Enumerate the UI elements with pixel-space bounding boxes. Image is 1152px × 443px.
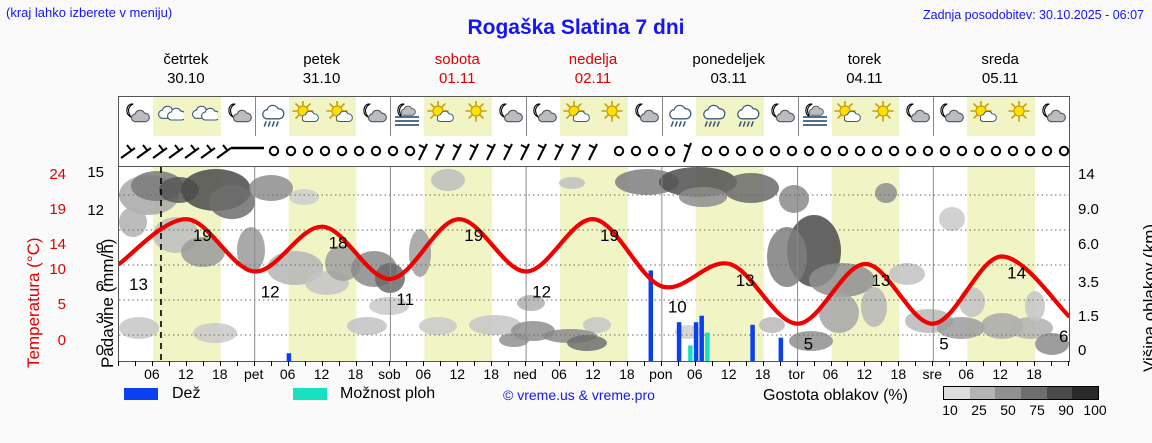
moon-cloud-icon [495,101,523,129]
sun-cloud-icon [834,101,862,129]
svg-text:12: 12 [261,282,280,301]
hour-tick [949,361,950,366]
hour-tick [847,361,848,366]
rain-label: Dež [172,385,200,403]
hour-label: 18 [212,366,228,382]
hour-tick [695,361,696,366]
sun-cloud-icon [326,101,354,129]
temperature-tick: 24 [26,166,66,183]
cloud-height-tick: 9.0 [1078,201,1124,218]
hour-label: 18 [483,366,499,382]
moon-cloud-icon [631,101,659,129]
moon-cloud-icon [902,101,930,129]
day-separator [526,97,527,136]
hour-tick [271,361,272,366]
hour-label: 06 [416,366,432,382]
hour-tick [966,361,967,366]
cloud-density-scale-labels: 1025507590100 [936,402,1111,420]
day-name: četrtek [118,50,254,69]
svg-text:10: 10 [668,297,687,316]
cloud-density-label: 90 [1058,402,1074,418]
hour-label: 12 [178,366,194,382]
moon-cloud-icon [1038,101,1066,129]
hour-tick [322,361,323,366]
cloud-rain-icon [699,101,727,129]
hour-label: sob [378,366,401,382]
cloud-density-step-50 [995,387,1021,399]
hour-tick [797,361,798,366]
cloud-density-legend-title: Gostota oblakov (%) [763,387,908,405]
day-name: nedelja [525,50,661,69]
hour-label: 12 [585,366,601,382]
hour-tick [339,361,340,366]
hour-tick [491,361,492,366]
hour-label: 18 [1026,366,1042,382]
hour-tick [440,361,441,366]
shower-label: Možnost ploh [340,385,435,403]
cloud-density-step-75 [1021,387,1047,399]
cloud-density-label: 100 [1083,402,1106,418]
hour-tick [542,361,543,366]
cloud-density-label: 50 [1000,402,1016,418]
moon-cloud-icon [936,101,964,129]
hour-tick [763,361,764,366]
hour-tick [576,361,577,366]
wind-barb-strip [118,136,1070,166]
sun-icon [461,101,489,129]
cloud-density-ramp [943,386,1099,400]
copyright-link[interactable]: © vreme.us & vreme.pro [503,387,655,403]
day-name: sreda [932,50,1068,69]
day-separator [662,97,663,136]
hour-label: 18 [348,366,364,382]
svg-text:19: 19 [600,226,619,245]
moon-fog-icon [393,101,421,129]
day-header-3: sobota01.11 [389,50,525,88]
cloud-density-step-10 [944,387,970,399]
svg-text:13: 13 [129,275,148,294]
cloud-density-label: 25 [971,402,987,418]
moon-fog-icon [801,101,829,129]
hour-tick [135,361,136,366]
hour-tick [644,361,645,366]
moon-cloud-icon [529,101,557,129]
hour-label: 06 [551,366,567,382]
hour-tick [305,361,306,366]
hour-tick [203,361,204,366]
cloud-density-step-25 [970,387,996,399]
hour-tick [237,361,238,366]
cloud-rain-icon [733,101,761,129]
moon-cloud-icon [767,101,795,129]
last-updated: Zadnja posodobitev: 30.10.2025 - 06:07 [923,8,1144,22]
day-date: 30.10 [118,69,254,88]
day-separator [933,97,934,136]
hour-label: 06 [687,366,703,382]
hour-label: 12 [992,366,1008,382]
hour-tick [678,361,679,366]
cloud-height-tick: 1.5 [1078,308,1124,325]
day-separator [255,97,256,136]
sun-cloud-icon [970,101,998,129]
hour-label: 18 [619,366,635,382]
cloud-density-label: 10 [942,402,958,418]
hour-tick [593,361,594,366]
hour-tick [1034,361,1035,366]
day-header-5: ponedeljek03.11 [661,50,797,88]
moon-cloud-icon [224,101,252,129]
cloud-height-axis: 149.06.03.51.50 [1074,166,1124,362]
hour-tick [1017,361,1018,366]
hour-tick [152,361,153,366]
day-date: 03.11 [661,69,797,88]
hour-label: 06 [144,366,160,382]
hour-label: 12 [314,366,330,382]
svg-text:12: 12 [532,282,551,301]
hour-tick [983,361,984,366]
hour-tick [169,361,170,366]
hour-tick [814,361,815,366]
svg-text:6: 6 [1059,327,1068,346]
svg-text:19: 19 [193,226,212,245]
temperature-axis-title: Temperatura (°C) [24,237,44,368]
hour-tick [864,361,865,366]
hour-tick [932,361,933,366]
cloud-icon [190,101,218,129]
hour-tick [915,361,916,366]
day-header-7: sreda05.11 [932,50,1068,88]
hour-tick [661,361,662,366]
cloud-density-label: 75 [1029,402,1045,418]
hour-label: ned [513,366,536,382]
svg-text:13: 13 [736,271,755,290]
day-name: torek [797,50,933,69]
day-date: 31.10 [254,69,390,88]
hour-tick [1000,361,1001,366]
cloud-icon [156,101,184,129]
precipitation-tick: 12 [78,202,104,219]
hour-label: 06 [823,366,839,382]
day-header-1: četrtek30.10 [118,50,254,88]
hour-label: sre [923,366,942,382]
hour-label: 06 [280,366,296,382]
sun-cloud-icon [563,101,591,129]
day-name: petek [254,50,390,69]
hour-tick [406,361,407,366]
shower-swatch [293,388,327,400]
day-date: 04.11 [797,69,933,88]
day-date: 01.11 [389,69,525,88]
day-separator [390,97,391,136]
cloud-height-tick: 14 [1078,166,1124,183]
day-header-6: torek04.11 [797,50,933,88]
moon-cloud-icon [122,101,150,129]
hour-label: 18 [891,366,907,382]
hour-label: 12 [857,366,873,382]
hour-tick [525,361,526,366]
hour-tick [881,361,882,366]
hour-tick [712,361,713,366]
cloud-rain-icon [665,101,693,129]
sun-cloud-icon [292,101,320,129]
svg-text:5: 5 [939,335,948,354]
precipitation-tick: 15 [78,164,104,181]
sun-icon [868,101,896,129]
cloud-height-tick: 6.0 [1078,236,1124,253]
hour-tick [254,361,255,366]
hour-tick [1051,361,1052,366]
hour-tick [780,361,781,366]
day-date: 05.11 [932,69,1068,88]
hour-tick [457,361,458,366]
precipitation-axis-title: Padavine (mm/h) [98,239,118,368]
sun-icon [1004,101,1032,129]
hour-axis: 061218pet061218sob061218ned061218pon0612… [118,364,1070,382]
hour-tick [1068,361,1069,366]
hour-label: pon [649,366,672,382]
day-separator [798,97,799,136]
hour-tick [610,361,611,366]
chart-legend: Dež Možnost ploh © vreme.us & vreme.pro … [118,386,1138,436]
hour-label: 18 [755,366,771,382]
cloud-height-tick: 3.5 [1078,274,1124,291]
hour-tick [746,361,747,366]
hour-label: 12 [449,366,465,382]
temperature-tick: 19 [26,201,66,218]
rain-swatch [124,388,158,400]
day-name: ponedeljek [661,50,797,69]
hour-tick [559,361,560,366]
hour-tick [186,361,187,366]
hour-tick [118,361,119,366]
svg-text:11: 11 [396,290,414,309]
hour-tick [288,361,289,366]
cloud-rain-icon [258,101,286,129]
cloud-height-tick: 0 [1078,342,1124,359]
day-header-2: petek31.10 [254,50,390,88]
hour-tick [831,361,832,366]
hour-tick [372,361,373,366]
day-header-4: nedelja02.11 [525,50,661,88]
hour-tick [389,361,390,366]
day-header-row: četrtek30.10petek31.10sobota01.11nedelja… [118,50,1070,94]
hour-tick [356,361,357,366]
svg-text:14: 14 [1007,264,1026,283]
sun-icon [597,101,625,129]
hour-tick [898,361,899,366]
svg-text:19: 19 [464,226,483,245]
svg-text:5: 5 [804,335,813,354]
moon-cloud-icon [359,101,387,129]
cloud-density-step-90 [1047,387,1073,399]
sun-cloud-icon [427,101,455,129]
weather-icon-strip [118,96,1070,136]
hour-label: tor [788,366,804,382]
forecast-plot: 131912181119121910135135146 [118,166,1070,362]
hour-tick [729,361,730,366]
hour-tick [474,361,475,366]
hour-label: pet [244,366,263,382]
hour-label: 06 [958,366,974,382]
svg-text:18: 18 [329,234,348,253]
day-date: 02.11 [525,69,661,88]
cloud-height-axis-title: Višina oblakov (km) [1140,224,1152,372]
hour-tick [423,361,424,366]
hour-label: 12 [721,366,737,382]
cloud-density-step-100 [1072,387,1098,399]
hour-tick [508,361,509,366]
day-name: sobota [389,50,525,69]
hour-tick [627,361,628,366]
hour-tick [220,361,221,366]
svg-text:13: 13 [871,271,890,290]
